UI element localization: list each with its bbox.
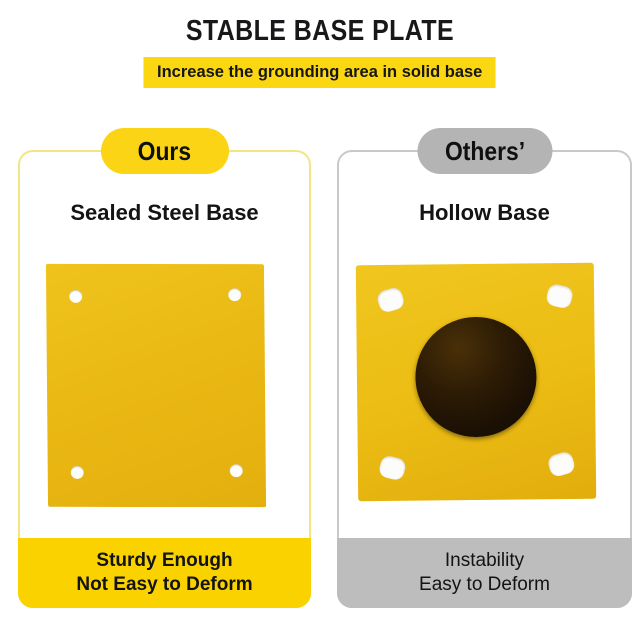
center-hollow-hole [415,317,537,438]
bolt-slot-icon [378,454,407,481]
badge-others: Others’ [417,128,552,174]
infographic-canvas: STABLE BASE PLATE Increase the grounding… [0,0,640,640]
bolt-hole-icon [71,466,84,479]
footer-others-line2: Easy to Deform [419,573,550,597]
footer-ours-line1: Sturdy Enough [96,549,232,573]
product-image-ours [20,247,309,542]
bolt-slot-icon [545,283,574,310]
subtitle-banner-wrap: Increase the grounding area in solid bas… [0,57,640,88]
bolt-slot-icon [546,450,576,478]
bolt-hole-icon [69,290,82,303]
bolt-slot-icon [376,286,406,314]
comparison-card-ours: Ours Sealed Steel Base Sturdy Enough Not… [18,150,311,608]
product-image-others [339,247,630,542]
bolt-hole-icon [228,288,241,301]
badge-others-label: Others’ [444,136,524,167]
footer-ours-line2: Not Easy to Deform [76,573,252,597]
solid-steel-base-plate [46,264,266,507]
footer-ours: Sturdy Enough Not Easy to Deform [18,538,311,608]
footer-others-line1: Instability [445,549,524,573]
hollow-base-plate [356,263,596,501]
page-title: STABLE BASE PLATE [45,14,595,48]
heading-ours: Sealed Steel Base [20,200,309,226]
subtitle-banner: Increase the grounding area in solid bas… [144,57,496,88]
badge-ours-label: Ours [138,136,191,167]
badge-ours: Ours [101,128,229,174]
heading-others: Hollow Base [339,200,630,226]
comparison-card-others: Others’ Hollow Base Instability Easy to … [337,150,632,608]
footer-others: Instability Easy to Deform [337,538,632,608]
bolt-hole-icon [230,464,243,477]
